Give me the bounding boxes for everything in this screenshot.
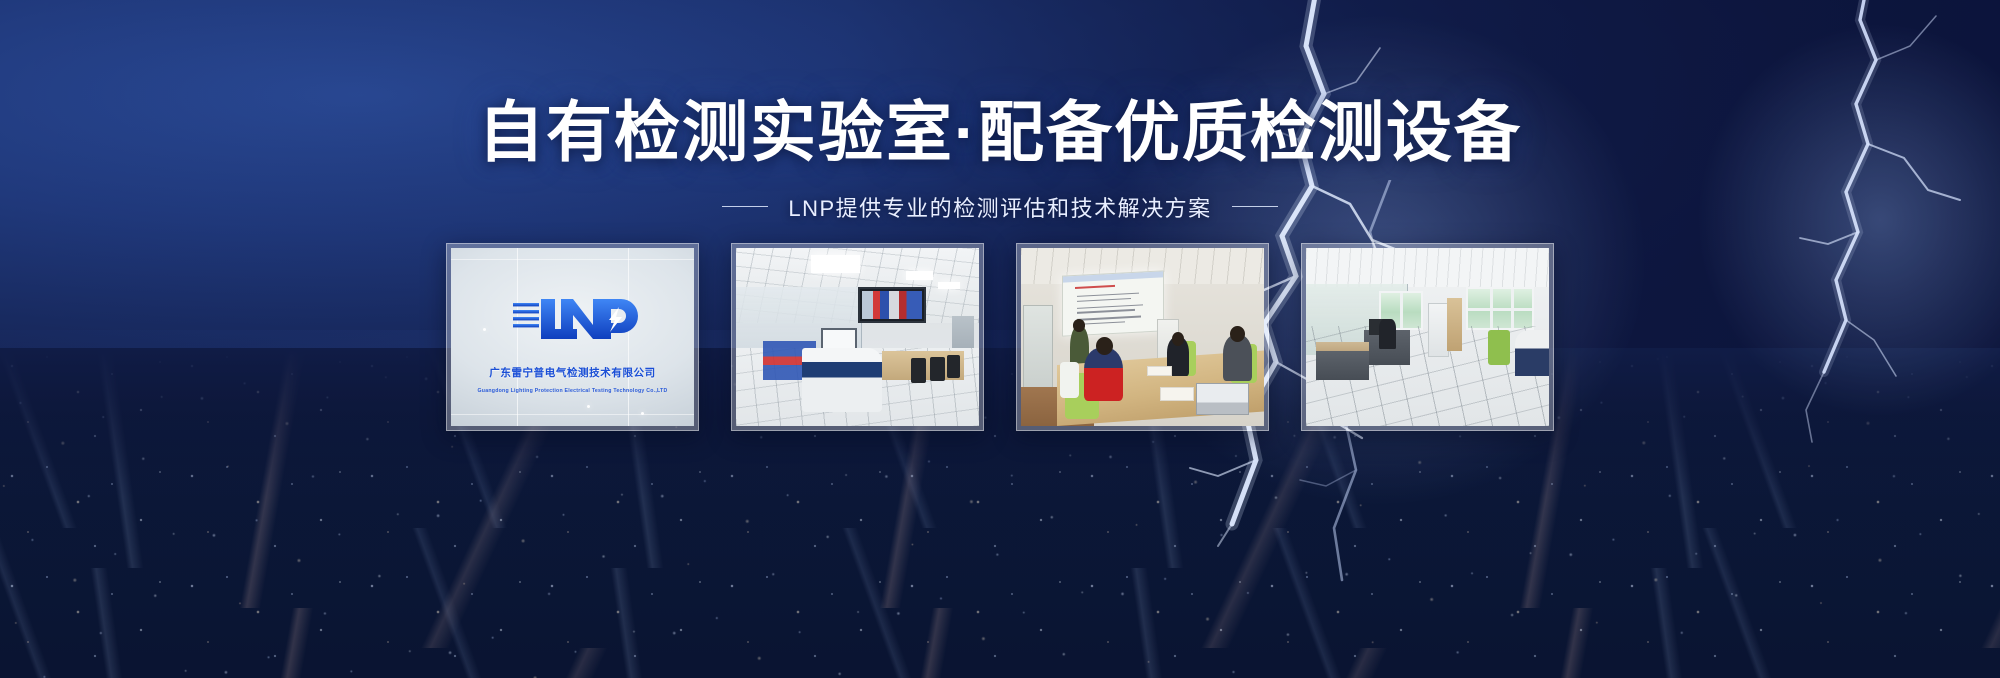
slide-text-line [1077, 309, 1135, 313]
wall-spark [483, 328, 486, 331]
wall-spark [587, 405, 590, 408]
photo-company-signage: 广东雷宁普电气检测技术有限公司 Guangdong Lighting Prote… [451, 248, 694, 426]
slide-title-line [1075, 284, 1115, 288]
wall-highlight [451, 414, 694, 415]
office-chair [911, 358, 926, 383]
photo-open-office [1306, 248, 1549, 426]
slide-text-line [1077, 316, 1141, 321]
monitor-image [862, 291, 922, 319]
slide-text-line [1077, 292, 1139, 297]
rule-right-icon [1232, 206, 1278, 207]
gallery-item-open-office[interactable] [1301, 243, 1554, 431]
ceiling-light [906, 271, 933, 280]
ceiling-light [811, 255, 860, 273]
lnp-logo-icon [507, 293, 639, 347]
company-name-en: Guangdong Lighting Protection Electrical… [478, 388, 668, 394]
page-subtitle: LNP提供专业的检测评估和技术解决方案 [788, 191, 1211, 223]
attendee-head [1230, 326, 1245, 342]
headline-block: 自有检测实验室·配备优质检测设备 LNP提供专业的检测评估和技术解决方案 [0, 96, 2000, 223]
window [1466, 287, 1534, 330]
attendee-head [1172, 332, 1184, 346]
company-name-cn: 广东雷宁普电气检测技术有限公司 [489, 365, 656, 380]
wood-shelf [1447, 298, 1462, 351]
attendee-person [1223, 335, 1252, 381]
room-door [1023, 305, 1052, 394]
photo-training-meeting [1021, 248, 1264, 426]
window-mullion [1468, 308, 1532, 311]
visitor-chair [1488, 330, 1510, 366]
wall-highlight [451, 259, 694, 260]
hero-banner: 自有检测实验室·配备优质检测设备 LNP提供专业的检测评估和技术解决方案 [0, 0, 2000, 678]
page-title: 自有检测实验室·配备优质检测设备 [0, 96, 2000, 169]
attendee-person [1084, 348, 1123, 401]
window-mullion [1400, 293, 1403, 328]
wall-spark [641, 412, 644, 415]
slide-text-line [1077, 304, 1143, 309]
reception-counter [1515, 330, 1549, 376]
wall-monitor [858, 287, 926, 323]
ceiling-light [938, 282, 960, 289]
document-paper [1160, 387, 1194, 401]
ceiling [1306, 248, 1549, 287]
laptop [1196, 383, 1249, 415]
document-paper [1147, 366, 1171, 377]
gallery-item-high-voltage-lab[interactable] [731, 243, 984, 431]
meeting-chair [1060, 362, 1079, 398]
office-chair [947, 355, 959, 378]
gallery-item-company-signage[interactable]: 广东雷宁普电气检测技术有限公司 Guangdong Lighting Prote… [446, 243, 699, 431]
office-chair [930, 357, 945, 382]
rule-left-icon [722, 206, 768, 207]
side-desk-body [1316, 351, 1369, 379]
gallery-item-training-meeting[interactable] [1016, 243, 1269, 431]
photo-gallery: 广东雷宁普电气检测技术有限公司 Guangdong Lighting Prote… [0, 243, 2000, 431]
slide-text-line [1077, 298, 1131, 302]
control-console [802, 348, 882, 412]
presenter-head [1073, 319, 1085, 331]
photo-high-voltage-lab [736, 248, 979, 426]
seated-staff [1379, 319, 1396, 349]
subtitle-row: LNP提供专业的检测评估和技术解决方案 [0, 191, 2000, 223]
